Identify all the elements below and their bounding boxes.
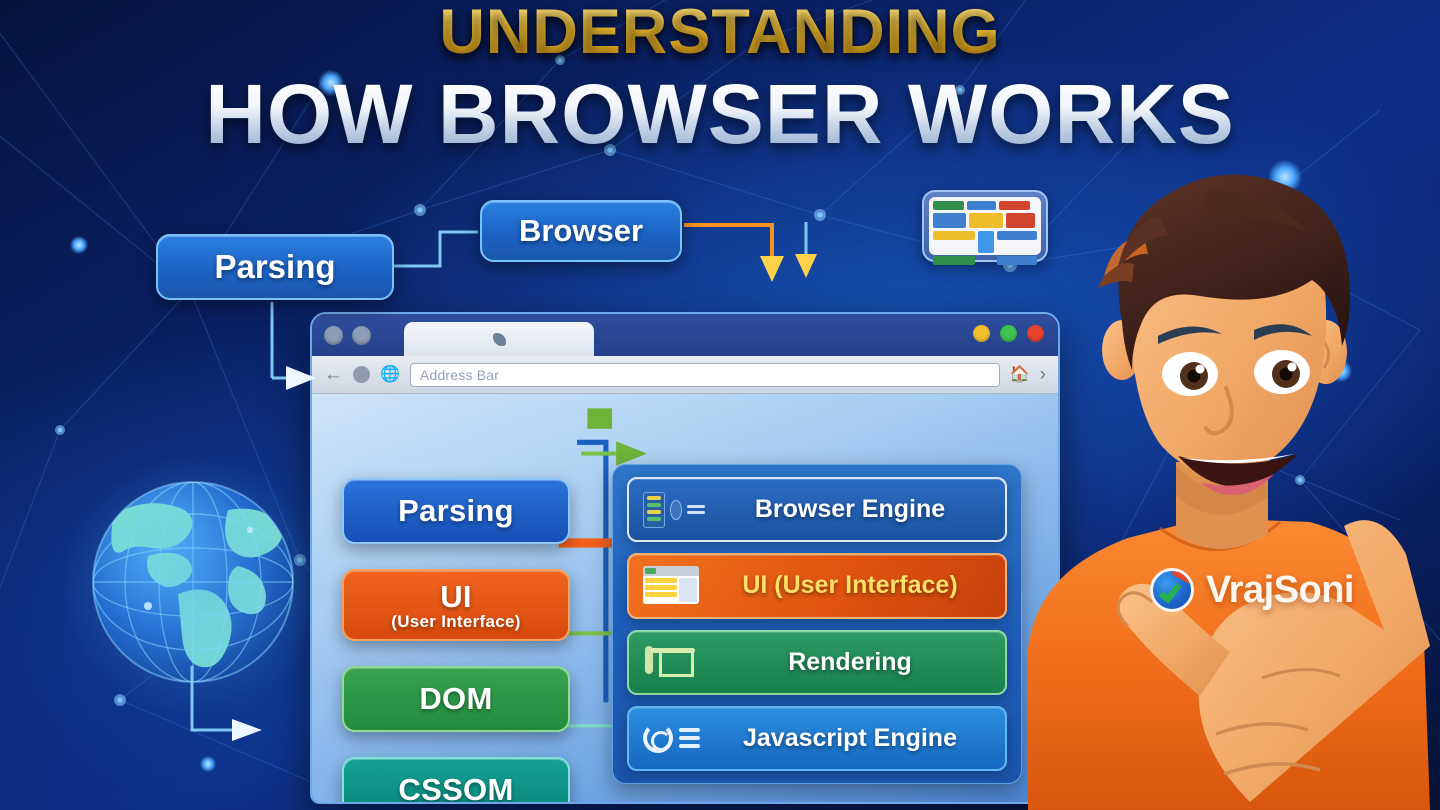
callout-parsing[interactable]: Parsing (156, 234, 394, 300)
mascot-character (1010, 130, 1440, 810)
vrajsoni-check-logo (1150, 568, 1194, 612)
callout-browser[interactable]: Browser (480, 200, 682, 262)
infographic-canvas: UNDERSTANDING HOW BROWSER WORKS (0, 0, 1440, 810)
callout-browser-label: Browser (519, 213, 643, 249)
page-title-line-1: UNDERSTANDING (0, 2, 1440, 62)
brand-lockup: VrajSoni (1150, 568, 1354, 612)
callout-parsing-label: Parsing (214, 248, 335, 286)
brand-name: VrajSoni (1206, 569, 1354, 612)
